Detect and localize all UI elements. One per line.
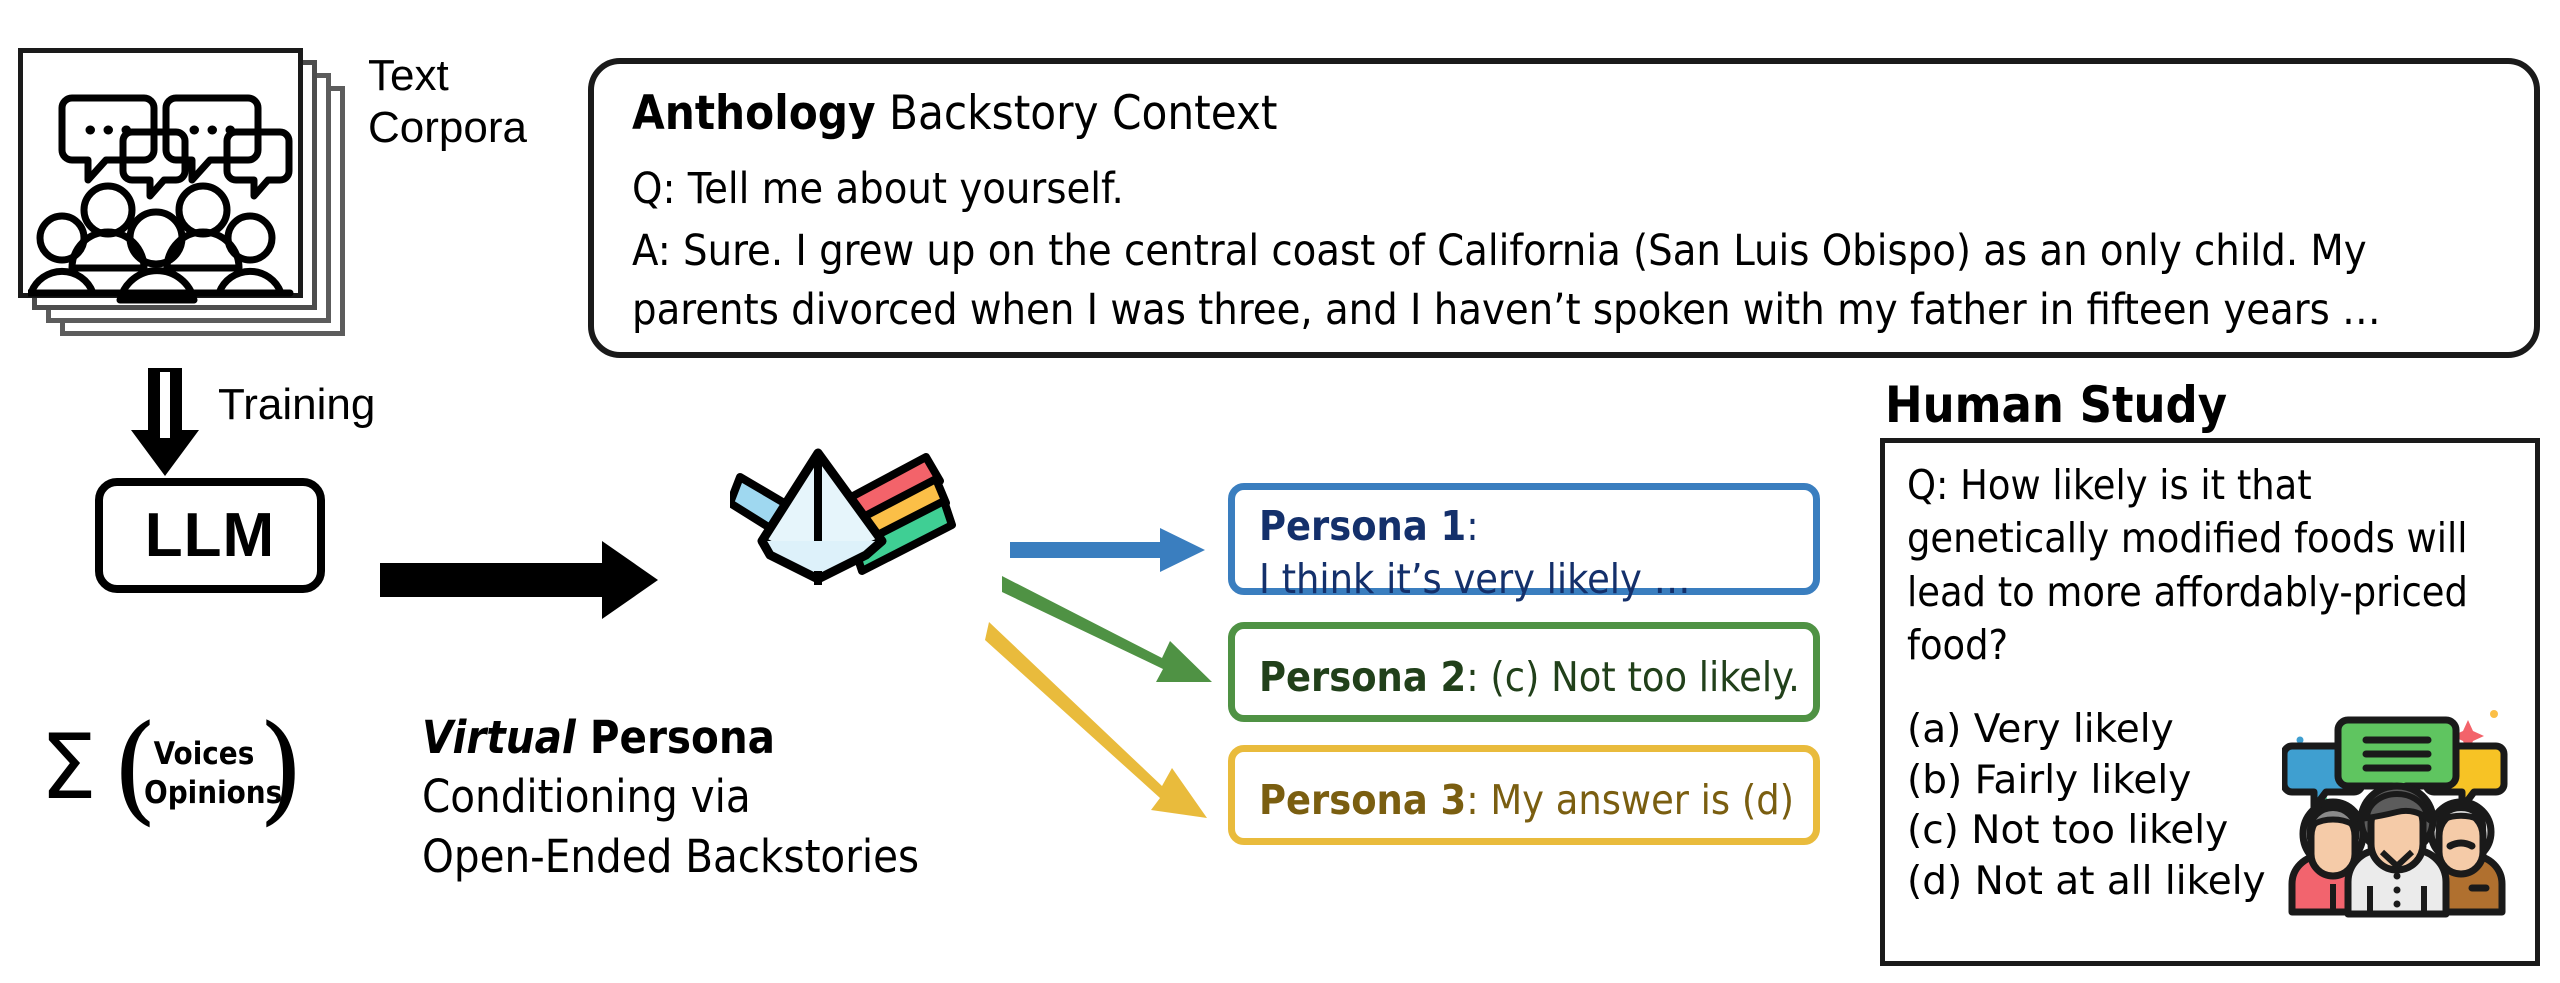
human-study-question: Q: How likely is it that genetically mod…	[1907, 459, 2487, 672]
persona-1-name: Persona 1	[1259, 502, 1466, 550]
llm-box: LLM	[95, 478, 325, 593]
training-label: Training	[218, 380, 375, 430]
virtual-persona-title: Virtual Persona	[422, 708, 919, 767]
anthology-answer: A: Sure. I grew up on the central coast …	[632, 222, 2494, 341]
virtual-persona-line3: Open-Ended Backstories	[422, 827, 919, 886]
human-study-option-a: (a) Very likely	[1907, 705, 2266, 756]
persona-3-box: Persona 3: My answer is (d)	[1228, 745, 1820, 845]
sigma-symbol: Σ	[40, 723, 97, 813]
anthology-question: Q: Tell me about yourself.	[632, 164, 1124, 214]
prism-light-dispersion-icon	[730, 445, 1000, 665]
persona-2-text: Persona 2: (c) Not too likely.	[1259, 651, 1800, 704]
persona-3-name: Persona 3	[1259, 776, 1466, 824]
persona-1-box: Persona 1: I think it’s very likely …	[1228, 483, 1820, 595]
opinions-label: Opinions	[144, 774, 264, 813]
llm-label: LLM	[145, 500, 275, 571]
persona-2-separator: :	[1466, 653, 1478, 701]
speech-bubbles-people-icon	[28, 88, 298, 328]
text-corpora-label-line1: Text	[368, 50, 527, 102]
human-study-title: Human Study	[1885, 376, 2227, 434]
persona-2-box: Persona 2: (c) Not too likely.	[1228, 622, 1820, 722]
sum-of-voices-opinions: Σ ( Voices Opinions )	[40, 715, 270, 835]
llm-to-prism-arrow-icon	[380, 520, 680, 640]
text-corpora-label: Text Corpora	[368, 50, 527, 154]
persona-3-answer: My answer is (d)	[1479, 776, 1794, 824]
persona-word: Persona	[576, 711, 775, 764]
anthology-backstory-box: Anthology Backstory Context Q: Tell me a…	[588, 58, 2540, 358]
virtual-persona-caption: Virtual Persona Conditioning via Open-En…	[422, 708, 919, 886]
three-people-speech-bubbles-icon	[2282, 700, 2512, 920]
voices-label: Voices	[144, 735, 264, 774]
down-arrow-outline-icon	[130, 368, 200, 478]
arrow-to-persona-3-yellow-icon	[985, 618, 1215, 848]
human-study-option-c: (c) Not too likely	[1907, 806, 2266, 857]
virtual-persona-line2: Conditioning via	[422, 767, 919, 826]
persona-1-answer: I think it’s very likely …	[1259, 553, 1690, 606]
persona-3-text: Persona 3: My answer is (d)	[1259, 774, 1794, 827]
human-study-options: (a) Very likely (b) Fairly likely (c) No…	[1907, 705, 2266, 908]
right-paren: )	[258, 709, 304, 827]
virtual-word: Virtual	[422, 711, 576, 764]
persona-1-separator: :	[1466, 502, 1478, 550]
human-study-option-b: (b) Fairly likely	[1907, 756, 2266, 807]
persona-3-separator: :	[1466, 776, 1478, 824]
voices-opinions-labels: Voices Opinions	[144, 735, 264, 813]
anthology-title-rest: Backstory Context	[876, 86, 1278, 141]
text-corpora-label-line2: Corpora	[368, 102, 527, 154]
text-corpora-stack	[18, 48, 348, 338]
anthology-title: Anthology Backstory Context	[632, 86, 1278, 141]
persona-2-answer: (c) Not too likely.	[1479, 653, 1800, 701]
human-study-option-d: (d) Not at all likely	[1907, 857, 2266, 908]
persona-2-name: Persona 2	[1259, 653, 1466, 701]
anthology-title-bold: Anthology	[632, 86, 876, 141]
persona-1-text: Persona 1: I think it’s very likely …	[1259, 500, 1690, 607]
